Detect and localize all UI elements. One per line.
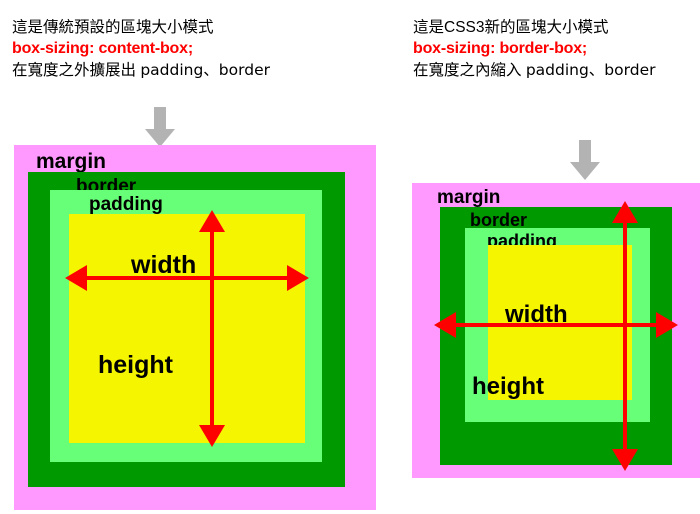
arrow-shaft (579, 140, 591, 164)
margin-box-border: margin border padding width height (412, 183, 700, 478)
height-arrow-line (623, 217, 627, 457)
border-box-content: border padding w (28, 172, 345, 487)
margin-label: margin (437, 188, 500, 207)
caption-code-border-box: box-sizing: border-box; (413, 38, 655, 60)
arrow-down-icon (570, 140, 600, 180)
height-arrow-content-box (69, 214, 305, 443)
padding-box-content: padding width height (50, 190, 322, 462)
height-arrow-border-box (440, 207, 672, 465)
caption-line-3: 在寬度之內縮入 padding、border (413, 60, 655, 81)
caption-line-1: 這是CSS3新的區塊大小模式 (413, 18, 655, 38)
arrow-down-icon (145, 107, 175, 147)
height-arrow-head-down (199, 425, 225, 447)
caption-code-content-box: box-sizing: content-box; (12, 38, 270, 60)
caption-line-3: 在寬度之外擴展出 padding、border (12, 60, 270, 81)
height-arrow-head-up (612, 201, 638, 223)
caption-content-box: 這是傳統預設的區塊大小模式 box-sizing: content-box; 在… (12, 18, 270, 81)
margin-box-content: margin border padding (14, 145, 376, 510)
panel-border-box: 這是CSS3新的區塊大小模式 box-sizing: border-box; 在… (400, 0, 700, 514)
height-arrow-head-down (612, 449, 638, 471)
height-arrow-line (210, 224, 214, 433)
border-box-border: border padding width height (440, 207, 672, 465)
height-arrow-head-up (199, 210, 225, 232)
height-label: height (472, 375, 544, 399)
margin-label: margin (36, 151, 106, 172)
caption-line-3-suffix: padding、border (526, 61, 656, 79)
width-label: width (505, 303, 568, 327)
caption-border-box: 這是CSS3新的區塊大小模式 box-sizing: border-box; 在… (413, 18, 655, 81)
arrow-head (570, 162, 600, 180)
caption-line-1: 這是傳統預設的區塊大小模式 (12, 18, 270, 38)
height-label: height (98, 353, 173, 378)
caption-line-3-prefix: 在寬度之外擴展出 (12, 62, 136, 79)
panel-content-box: 這是傳統預設的區塊大小模式 box-sizing: content-box; 在… (0, 0, 400, 514)
caption-line-3-prefix: 在寬度之內縮入 (413, 62, 522, 79)
content-box-area: width height (69, 214, 305, 443)
arrow-shaft (154, 107, 166, 131)
padding-label: padding (89, 195, 163, 214)
caption-line-3-suffix: padding、border (140, 61, 270, 79)
width-label: width (131, 253, 196, 278)
